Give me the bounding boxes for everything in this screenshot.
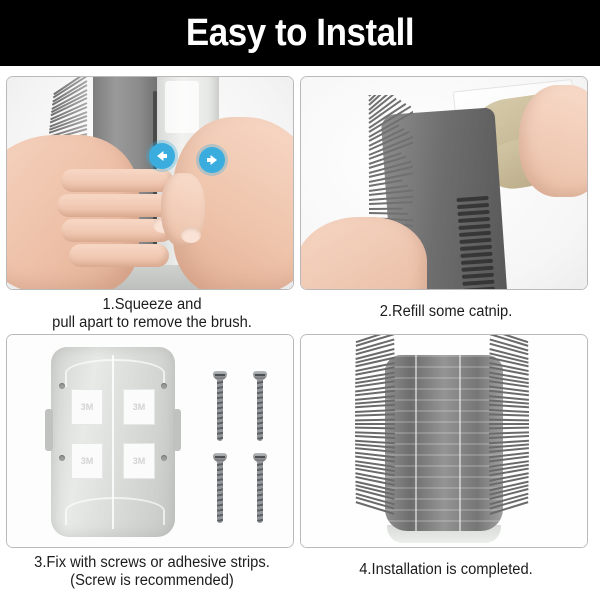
brush-bristles [355, 335, 399, 547]
screw [253, 371, 267, 441]
arrow-left-badge [149, 143, 175, 169]
step-3-caption: 3.Fix with screws or adhesive strips. (S… [13, 554, 290, 590]
photo-squeeze-and-pull-apart [7, 77, 293, 289]
header-banner: Easy to Install [0, 0, 600, 66]
page-title: Easy to Install [186, 14, 414, 52]
caption-line: 3.Fix with screws or adhesive strips. [13, 554, 290, 572]
screw-hole [59, 455, 65, 461]
caption-line: (Screw is recommended) [13, 572, 290, 590]
screw [213, 371, 227, 441]
step-3: 3M 3M 3M 3M 3.Fix with screws or adhesiv… [6, 334, 298, 590]
screw-hole [59, 383, 65, 389]
caption-line: 4.Installation is completed. [307, 561, 584, 579]
adhesive-pad: 3M [123, 389, 155, 425]
mounting-bracket: 3M 3M 3M 3M [51, 347, 175, 537]
step-1-caption: 1.Squeeze and pull apart to remove the b… [13, 296, 290, 332]
caption-line: 1.Squeeze and [13, 296, 290, 314]
screw-hole [161, 455, 167, 461]
caption-line: 2.Refill some catnip. [307, 303, 584, 321]
adhesive-pad: 3M [123, 443, 155, 479]
adhesive-pad: 3M [71, 443, 103, 479]
step-1-photo-panel [6, 76, 294, 290]
screw [213, 453, 227, 523]
step-1: 1.Squeeze and pull apart to remove the b… [6, 76, 298, 332]
step-2: 2.Refill some catnip. [300, 76, 592, 321]
screw [253, 453, 267, 523]
bracket-tab [45, 409, 53, 451]
pouring-hand [519, 85, 588, 197]
step-4: 4.Installation is completed. [300, 334, 592, 579]
steps-grid: 1.Squeeze and pull apart to remove the b… [0, 66, 600, 600]
bracket-tab [173, 409, 181, 451]
step-2-caption: 2.Refill some catnip. [307, 296, 584, 321]
screw-hole [161, 383, 167, 389]
photo-installation-completed [301, 335, 587, 547]
photo-refill-catnip [301, 77, 587, 289]
arrow-right-badge [199, 147, 225, 173]
fingernail [181, 227, 201, 243]
photo-bracket-and-screws: 3M 3M 3M 3M [7, 335, 293, 547]
holding-hand [300, 217, 427, 290]
step-2-photo-panel [300, 76, 588, 290]
brush-bristles [485, 335, 529, 547]
caption-line: pull apart to remove the brush. [13, 314, 290, 332]
vent-slots [456, 196, 497, 290]
step-4-photo-panel [300, 334, 588, 548]
adhesive-pad: 3M [71, 389, 103, 425]
step-4-caption: 4.Installation is completed. [307, 554, 584, 579]
step-3-photo-panel: 3M 3M 3M 3M [6, 334, 294, 548]
